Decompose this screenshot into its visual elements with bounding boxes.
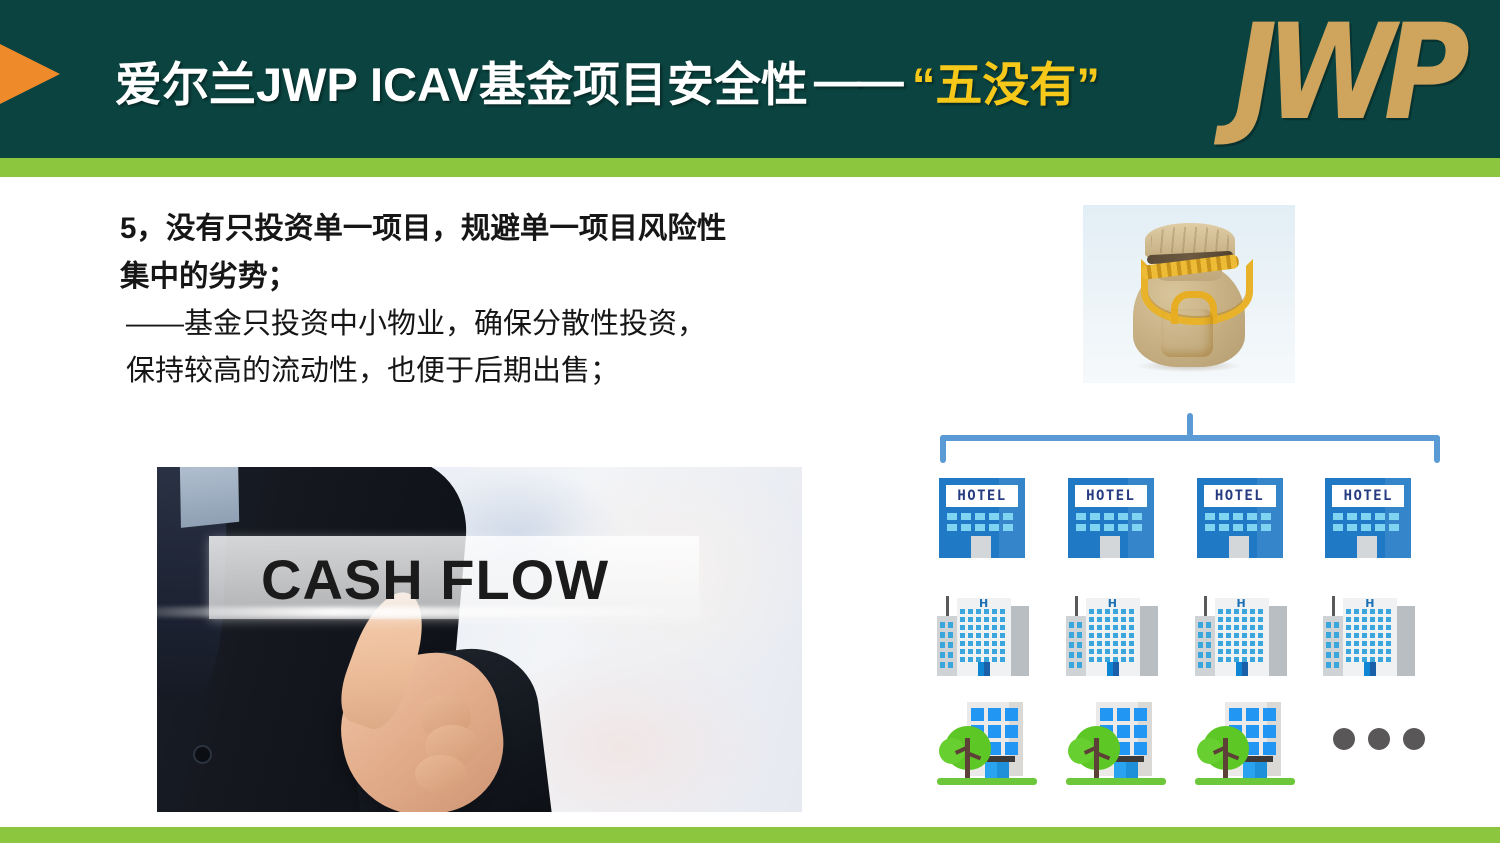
hotel-sign: HOTEL (1204, 485, 1276, 507)
slide: 爱尔兰JWP ICAV基金项目安全性 —— “五没有” JWP 5，没有只投资单… (0, 0, 1500, 843)
ellipsis-dot (1403, 728, 1425, 750)
property-diagram: HOTEL HOTEL (935, 478, 1450, 808)
office-right-tower (1395, 606, 1415, 676)
residential-row (935, 700, 1450, 792)
body-text-block: 5，没有只投资单一项目，规避单一项目风险性 集中的劣势； ——基金只投资中小物业… (120, 205, 880, 395)
office-cell: H (1064, 590, 1193, 682)
hotel-cell: HOTEL (1321, 478, 1450, 568)
office-left-windows (940, 622, 956, 672)
hotel-cell: HOTEL (1193, 478, 1322, 568)
hotel-cell: HOTEL (935, 478, 1064, 568)
hotel-windows (947, 513, 1017, 535)
jwp-logo: JWP (1233, 6, 1458, 138)
residential-cell (935, 700, 1064, 792)
office-door (1107, 662, 1119, 676)
office-right-tower (1267, 606, 1287, 676)
ground-strip (1066, 778, 1166, 785)
orange-chevron-icon (0, 14, 60, 134)
bracket-horizontal (940, 435, 1440, 441)
office-building-icon: H (937, 592, 1029, 676)
tree-trunk (965, 738, 970, 778)
knuckle (415, 755, 467, 793)
office-door (978, 662, 990, 676)
hotel-windows (1333, 513, 1403, 535)
hotel-sign-label: HOTEL (1086, 488, 1135, 504)
paragraph-4: 保持较高的流动性，也便于后期出售； (120, 348, 880, 395)
hotel-row: HOTEL HOTEL (935, 478, 1450, 568)
padlock-icon (1161, 309, 1213, 357)
hotel-icon: HOTEL (1068, 478, 1154, 558)
office-door (1236, 662, 1248, 676)
paragraph-2: 集中的劣势； (120, 253, 880, 301)
hotel-sign: HOTEL (946, 485, 1018, 507)
page-title: 爱尔兰JWP ICAV基金项目安全性 —— “五没有” (115, 34, 1100, 126)
office-right-windows (1015, 612, 1023, 616)
hotel-sign-label: HOTEL (1344, 488, 1393, 504)
money-bag-image (1083, 205, 1295, 383)
ellipsis-icon (1333, 728, 1425, 750)
bracket-left-end (940, 435, 946, 463)
ground-strip (1195, 778, 1295, 785)
header-green-divider (0, 158, 1500, 177)
residential-door-shade (1126, 762, 1138, 778)
hotel-sign: HOTEL (1332, 485, 1404, 507)
residential-cell (1193, 700, 1322, 792)
office-row: H (935, 590, 1450, 682)
office-cell: H (1193, 590, 1322, 682)
residential-cell (1064, 700, 1193, 792)
hotel-door (1100, 536, 1120, 558)
suit-shirt (180, 467, 240, 528)
hotel-icon: HOTEL (939, 478, 1025, 558)
paragraph-1: 5，没有只投资单一项目，规避单一项目风险性 (120, 205, 880, 253)
residential-building-icon (1066, 702, 1166, 786)
paragraph-3: ——基金只投资中小物业，确保分散性投资， (120, 301, 880, 348)
office-left-windows (1326, 622, 1342, 672)
hotel-door (971, 536, 991, 558)
suit-button (193, 745, 212, 764)
hotel-sign-label: HOTEL (1215, 488, 1264, 504)
ground-strip (937, 778, 1037, 785)
office-building-icon: H (1323, 592, 1415, 676)
hotel-cell: HOTEL (1064, 478, 1193, 568)
ellipsis-cell (1321, 700, 1450, 792)
bracket-right-end (1434, 435, 1440, 463)
hotel-icon: HOTEL (1325, 478, 1411, 558)
office-right-tower (1138, 606, 1158, 676)
office-cell: H (1321, 590, 1450, 682)
ellipsis-dot (1368, 728, 1390, 750)
office-door (1364, 662, 1376, 676)
cash-flow-photo: CASH FLOW (157, 467, 802, 812)
residential-door-shade (1255, 762, 1267, 778)
hotel-sign-label: HOTEL (957, 488, 1006, 504)
diagram-bracket (940, 435, 1440, 465)
office-center-windows (1218, 609, 1266, 665)
office-cell: H (935, 590, 1064, 682)
footer-green-bar (0, 827, 1500, 843)
title-highlight-text: “五没有” (906, 46, 1100, 115)
hotel-sign: HOTEL (1075, 485, 1147, 507)
office-center-windows (1346, 609, 1394, 665)
title-dash: —— (808, 53, 906, 108)
hotel-door (1357, 536, 1377, 558)
ellipsis-dot (1333, 728, 1355, 750)
office-left-windows (1069, 622, 1085, 672)
office-center-windows (960, 609, 1008, 665)
cash-flow-caption: CASH FLOW (261, 547, 609, 612)
office-right-tower (1009, 606, 1029, 676)
office-right-windows (1273, 612, 1281, 616)
office-building-icon: H (1195, 592, 1287, 676)
hotel-windows (1205, 513, 1275, 535)
title-main-text: 爱尔兰JWP ICAV基金项目安全性 (115, 46, 808, 115)
residential-door-shade (997, 762, 1009, 778)
slide-header: 爱尔兰JWP ICAV基金项目安全性 —— “五没有” JWP (0, 0, 1500, 158)
office-right-windows (1401, 612, 1409, 616)
hotel-door (1229, 536, 1249, 558)
hotel-windows (1076, 513, 1146, 535)
bracket-stem (1187, 413, 1193, 437)
hotel-icon: HOTEL (1197, 478, 1283, 558)
office-center-windows (1089, 609, 1137, 665)
office-right-windows (1144, 612, 1152, 616)
office-building-icon: H (1066, 592, 1158, 676)
residential-building-icon (937, 702, 1037, 786)
residential-building-icon (1195, 702, 1295, 786)
office-left-windows (1198, 622, 1214, 672)
